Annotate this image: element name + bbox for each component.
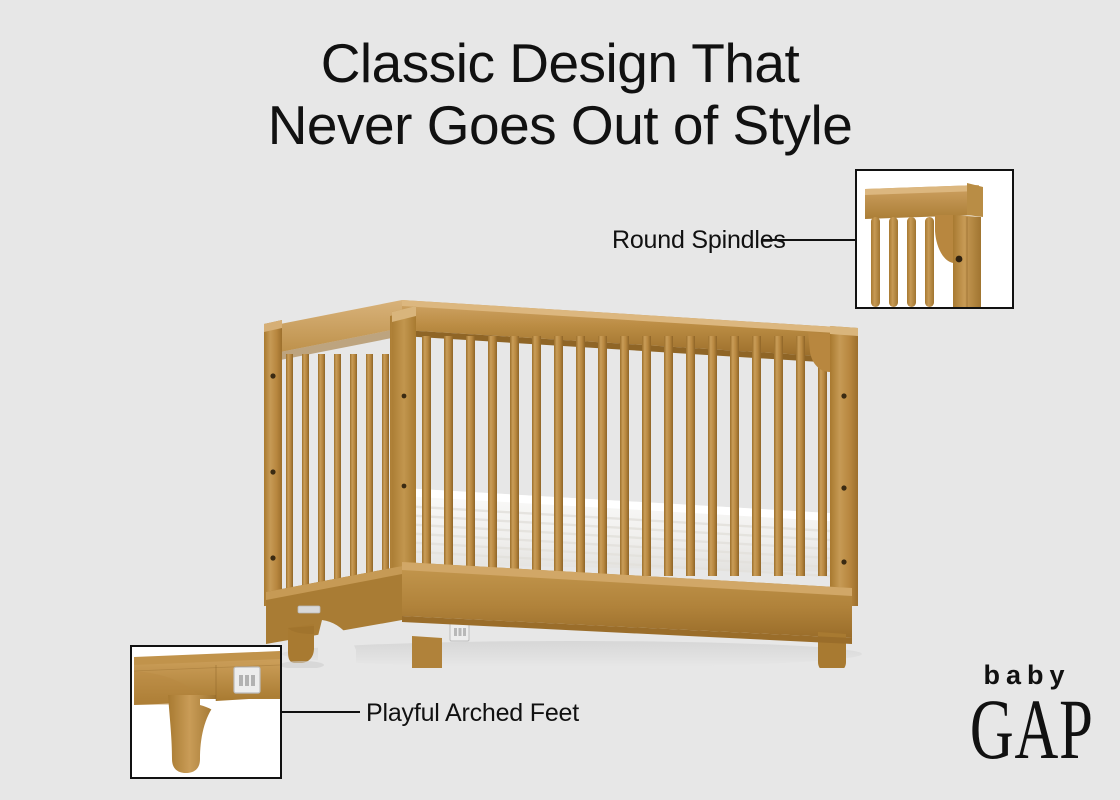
callout-leader-line-round-spindles	[763, 239, 855, 241]
page-title: Classic Design That Never Goes Out of St…	[0, 32, 1120, 156]
brand-logo: baby GAP	[958, 660, 1090, 758]
product-image	[252, 276, 872, 668]
detail-inset-playful-arched-feet	[130, 645, 282, 779]
detail-inset-round-spindles	[855, 169, 1014, 309]
callout-label-playful-arched-feet: Playful Arched Feet	[366, 699, 579, 728]
marketing-image: Classic Design That Never Goes Out of St…	[0, 0, 1120, 800]
callout-leader-line-playful-arched-feet	[282, 711, 360, 713]
headline-line-2: Never Goes Out of Style	[0, 94, 1120, 156]
callout-label-round-spindles: Round Spindles	[612, 226, 786, 255]
brand-badge-side	[298, 606, 320, 613]
brand-logo-gap: GAP	[970, 692, 1078, 769]
headline-line-1: Classic Design That	[0, 32, 1120, 94]
